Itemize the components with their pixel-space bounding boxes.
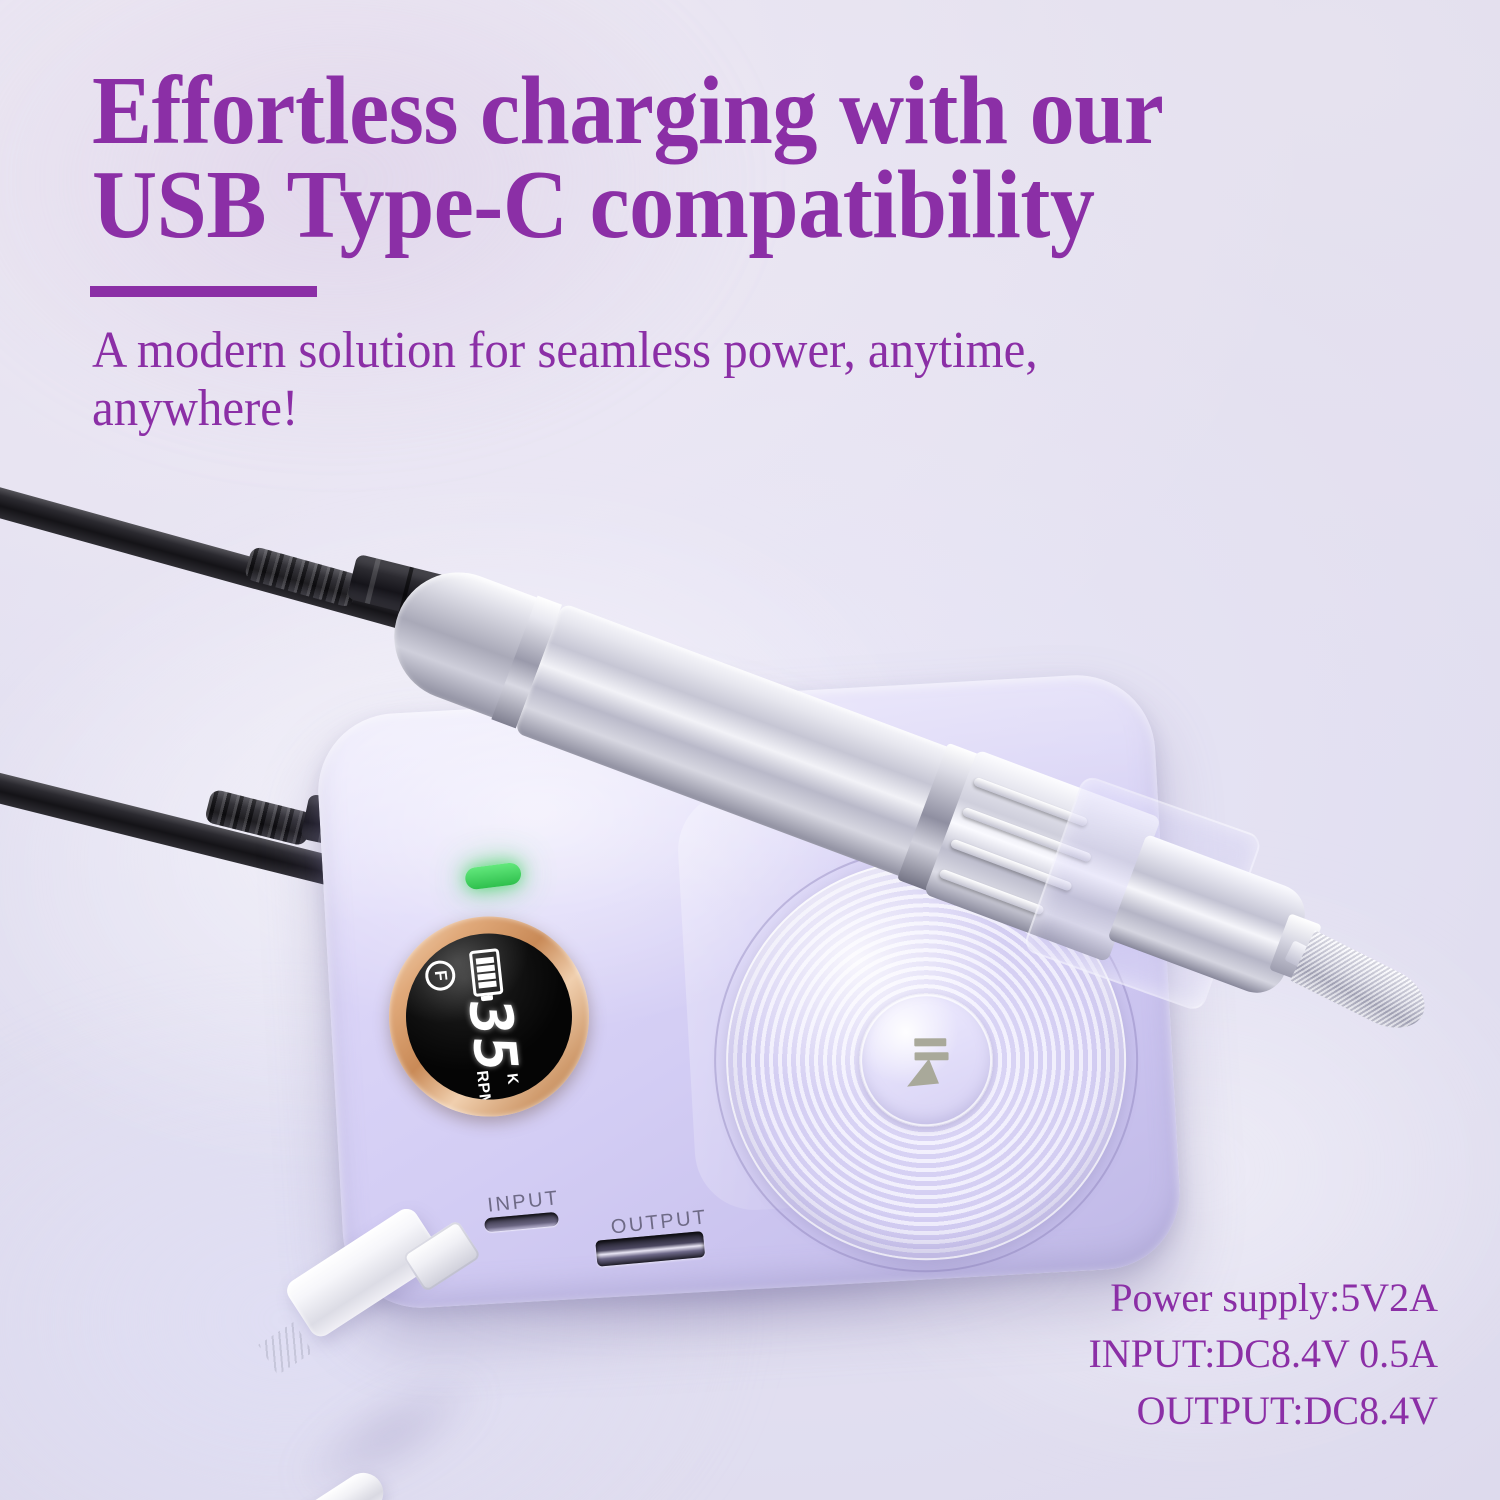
page-subtitle: A modern solution for seamless power, an…: [92, 322, 1248, 438]
speed-unit-label: RPM: [472, 1070, 494, 1108]
title-accent-bar: [90, 286, 317, 297]
spec-input: INPUT:DC8.4V 0.5A: [1088, 1326, 1438, 1383]
speed-control-icon: [891, 1025, 962, 1096]
specification-list: Power supply:5V2A INPUT:DC8.4V 0.5A OUTP…: [1088, 1270, 1438, 1440]
display-bezel: 35 K RPM F: [379, 906, 599, 1126]
lcd-display: 35 K RPM F: [398, 925, 581, 1108]
charging-led-indicator: [464, 862, 522, 891]
spec-power-supply: Power supply:5V2A: [1088, 1270, 1438, 1327]
spec-output: OUTPUT:DC8.4V: [1088, 1383, 1438, 1440]
page-title: Effortless charging with our USB Type-C …: [92, 64, 1316, 252]
product-hero-image: Effortless charging with our USB Type-C …: [0, 0, 1500, 1500]
speed-unit-multiplier: K: [503, 1073, 521, 1086]
